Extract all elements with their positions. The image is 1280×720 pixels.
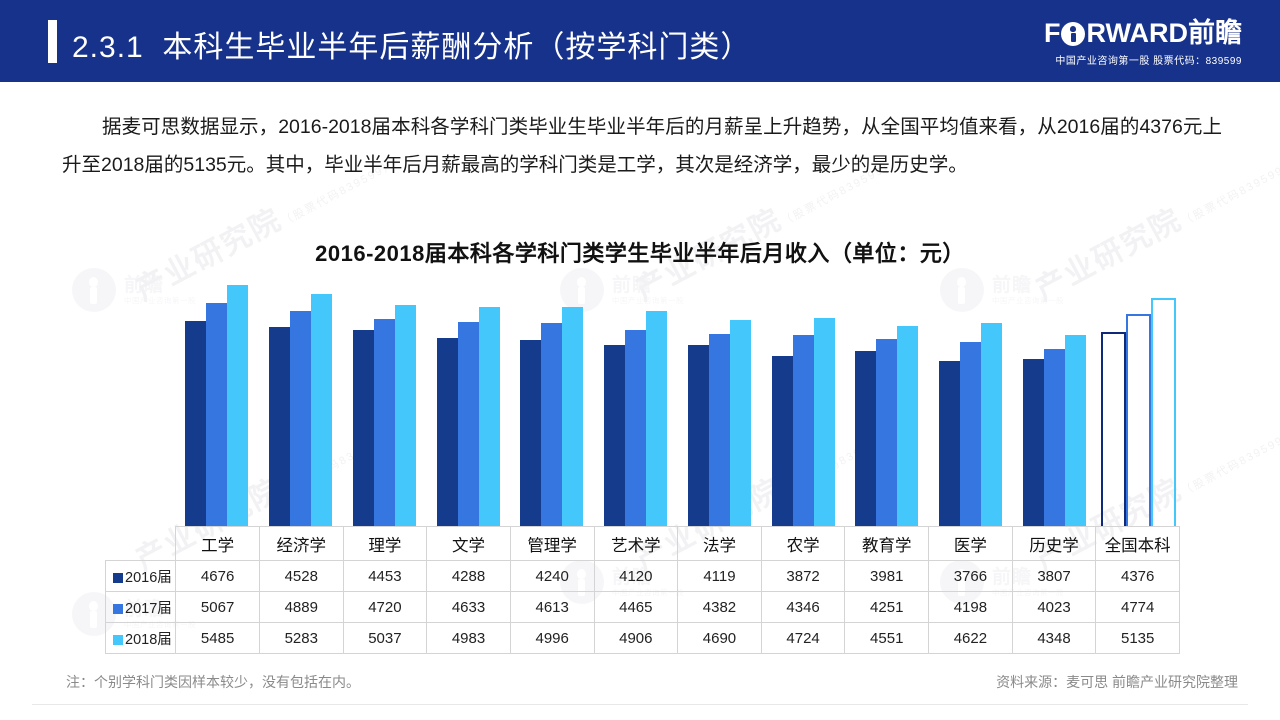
cell-2016届-农学: 3872 — [761, 561, 845, 592]
legend-label: 2018届 — [125, 632, 172, 648]
legend-swatch-icon — [113, 573, 123, 583]
table-header-row: 工学经济学理学文学管理学艺术学法学农学教育学医学历史学全国本科 — [106, 527, 1180, 561]
section-number: 2.3.1 — [72, 31, 144, 64]
cell-2017届-管理学: 4613 — [510, 592, 594, 623]
bar-groups — [175, 280, 1180, 526]
legend-swatch-icon — [113, 635, 123, 645]
bar-2017届-经济学 — [290, 311, 311, 526]
bar-2018届-管理学 — [562, 307, 583, 526]
bar-2016届-全国本科 — [1101, 332, 1126, 526]
column-header-管理学: 管理学 — [510, 527, 594, 561]
bar-2018届-法学 — [730, 320, 751, 526]
bar-2016届-文学 — [437, 338, 458, 526]
table-corner-cell — [106, 527, 176, 561]
page-header: 2.3.1 本科生毕业半年后薪酬分析（按学科门类） FRWARD前瞻 中国产业咨… — [0, 0, 1280, 82]
bar-2018届-理学 — [395, 305, 416, 526]
cell-2016届-全国本科: 4376 — [1096, 561, 1180, 592]
cell-2017届-经济学: 4889 — [259, 592, 343, 623]
bar-2017届-管理学 — [541, 323, 562, 526]
bar-2017届-艺术学 — [625, 330, 646, 526]
data-table: 工学经济学理学文学管理学艺术学法学农学教育学医学历史学全国本科2016届4676… — [105, 526, 1180, 654]
cell-2016届-经济学: 4528 — [259, 561, 343, 592]
column-header-全国本科: 全国本科 — [1096, 527, 1180, 561]
bar-group — [175, 280, 259, 526]
column-header-教育学: 教育学 — [845, 527, 929, 561]
cell-2018届-理学: 5037 — [343, 623, 427, 654]
cell-2017届-医学: 4198 — [929, 592, 1013, 623]
bar-2017届-历史学 — [1044, 349, 1065, 526]
bar-group — [761, 280, 845, 526]
bar-2017届-农学 — [793, 335, 814, 526]
column-header-经济学: 经济学 — [259, 527, 343, 561]
cell-2018届-经济学: 5283 — [259, 623, 343, 654]
bar-2016届-工学 — [185, 321, 206, 526]
cell-2018届-医学: 4622 — [929, 623, 1013, 654]
bar-2016届-艺术学 — [604, 345, 625, 526]
bar-2018届-农学 — [814, 318, 835, 526]
cell-2016届-管理学: 4240 — [510, 561, 594, 592]
bar-2018届-艺术学 — [646, 311, 667, 527]
legend-swatch-icon — [113, 604, 123, 614]
legend-label: 2016届 — [125, 570, 172, 586]
body-paragraph: 据麦可思数据显示，2016-2018届本科各学科门类毕业生毕业半年后的月薪呈上升… — [62, 108, 1222, 184]
column-header-工学: 工学 — [176, 527, 260, 561]
cell-2018届-教育学: 4551 — [845, 623, 929, 654]
bar-group — [426, 280, 510, 526]
bar-2018届-经济学 — [311, 294, 332, 526]
bar-2018届-全国本科 — [1151, 298, 1176, 526]
cell-2017届-全国本科: 4774 — [1096, 592, 1180, 623]
bar-2016届-历史学 — [1023, 359, 1044, 526]
watermark-logo-icon — [72, 268, 116, 312]
column-header-法学: 法学 — [678, 527, 762, 561]
bar-2018届-医学 — [981, 323, 1002, 526]
page-title: 2.3.1 本科生毕业半年后薪酬分析（按学科门类） — [72, 22, 751, 66]
cell-2017届-理学: 4720 — [343, 592, 427, 623]
cell-2016届-文学: 4288 — [427, 561, 511, 592]
cell-2016届-工学: 4676 — [176, 561, 260, 592]
table-row: 2016届46764528445342884240412041193872398… — [106, 561, 1180, 592]
cell-2018届-艺术学: 4906 — [594, 623, 678, 654]
cell-2017届-历史学: 4023 — [1012, 592, 1096, 623]
column-header-文学: 文学 — [427, 527, 511, 561]
column-header-农学: 农学 — [761, 527, 845, 561]
bar-2017届-法学 — [709, 334, 730, 526]
bar-group — [678, 280, 762, 526]
legend-item-2016届: 2016届 — [106, 561, 176, 592]
column-header-历史学: 历史学 — [1012, 527, 1096, 561]
bar-2016届-理学 — [353, 330, 374, 526]
bar-2018届-工学 — [227, 285, 248, 526]
header-accent-bar — [48, 20, 57, 63]
cell-2017届-教育学: 4251 — [845, 592, 929, 623]
cell-2016届-教育学: 3981 — [845, 561, 929, 592]
bar-group — [845, 280, 929, 526]
cell-2016届-理学: 4453 — [343, 561, 427, 592]
cell-2018届-管理学: 4996 — [510, 623, 594, 654]
cell-2017届-农学: 4346 — [761, 592, 845, 623]
cell-2016届-艺术学: 4120 — [594, 561, 678, 592]
source-note: 资料来源：麦可思 前瞻产业研究院整理 — [996, 672, 1238, 692]
section-title-text: 本科生毕业半年后薪酬分析（按学科门类） — [162, 31, 751, 64]
legend-item-2017届: 2017届 — [106, 592, 176, 623]
cell-2016届-医学: 3766 — [929, 561, 1013, 592]
cell-2017届-文学: 4633 — [427, 592, 511, 623]
column-header-艺术学: 艺术学 — [594, 527, 678, 561]
bar-group — [343, 280, 427, 526]
logo-o-icon — [1061, 22, 1085, 46]
bar-2017届-教育学 — [876, 339, 897, 526]
footer-divider — [32, 704, 1248, 705]
bar-2016届-管理学 — [520, 340, 541, 526]
bar-2017届-全国本科 — [1126, 314, 1151, 526]
bar-2017届-工学 — [206, 303, 227, 526]
bar-2018届-教育学 — [897, 326, 918, 526]
bar-2016届-法学 — [688, 345, 709, 526]
bar-2016届-农学 — [772, 356, 793, 526]
cell-2018届-历史学: 4348 — [1012, 623, 1096, 654]
cell-2018届-文学: 4983 — [427, 623, 511, 654]
column-header-理学: 理学 — [343, 527, 427, 561]
bar-group — [1096, 280, 1180, 526]
table-row: 2017届50674889472046334613446543824346425… — [106, 592, 1180, 623]
logo-word-rest: RWARD — [1086, 20, 1188, 47]
bar-2017届-文学 — [458, 322, 479, 526]
logo-letter-f: F — [1044, 20, 1061, 47]
chart-title: 2016-2018届本科各学科门类学生毕业半年后月收入（单位：元） — [0, 236, 1280, 268]
legend-label: 2017届 — [125, 601, 172, 617]
cell-2018届-法学: 4690 — [678, 623, 762, 654]
bar-chart-plot — [175, 280, 1180, 526]
bar-group — [929, 280, 1013, 526]
table-row: 2018届54855283503749834996490646904724455… — [106, 623, 1180, 654]
footnote: 注：个别学科门类因样本较少，没有包括在内。 — [66, 672, 360, 692]
bar-2017届-医学 — [960, 342, 981, 526]
brand-logo: FRWARD前瞻 中国产业咨询第一股 股票代码：839599 — [1044, 20, 1242, 67]
logo-wordmark: FRWARD前瞻 — [1044, 20, 1242, 47]
logo-subtitle: 中国产业咨询第一股 股票代码：839599 — [1044, 52, 1242, 67]
bar-2017届-理学 — [374, 319, 395, 526]
bar-2018届-历史学 — [1065, 335, 1086, 526]
column-header-医学: 医学 — [929, 527, 1013, 561]
bar-group — [259, 280, 343, 526]
bar-group — [510, 280, 594, 526]
legend-item-2018届: 2018届 — [106, 623, 176, 654]
bar-2018届-文学 — [479, 307, 500, 526]
bar-2016届-教育学 — [855, 351, 876, 526]
bar-group — [1013, 280, 1097, 526]
cell-2016届-法学: 4119 — [678, 561, 762, 592]
cell-2018届-农学: 4724 — [761, 623, 845, 654]
cell-2017届-工学: 5067 — [176, 592, 260, 623]
bar-2016届-医学 — [939, 361, 960, 526]
cell-2017届-艺术学: 4465 — [594, 592, 678, 623]
logo-cn: 前瞻 — [1188, 20, 1242, 47]
bar-group — [594, 280, 678, 526]
cell-2017届-法学: 4382 — [678, 592, 762, 623]
bar-2016届-经济学 — [269, 327, 290, 526]
cell-2016届-历史学: 3807 — [1012, 561, 1096, 592]
cell-2018届-工学: 5485 — [176, 623, 260, 654]
cell-2018届-全国本科: 5135 — [1096, 623, 1180, 654]
